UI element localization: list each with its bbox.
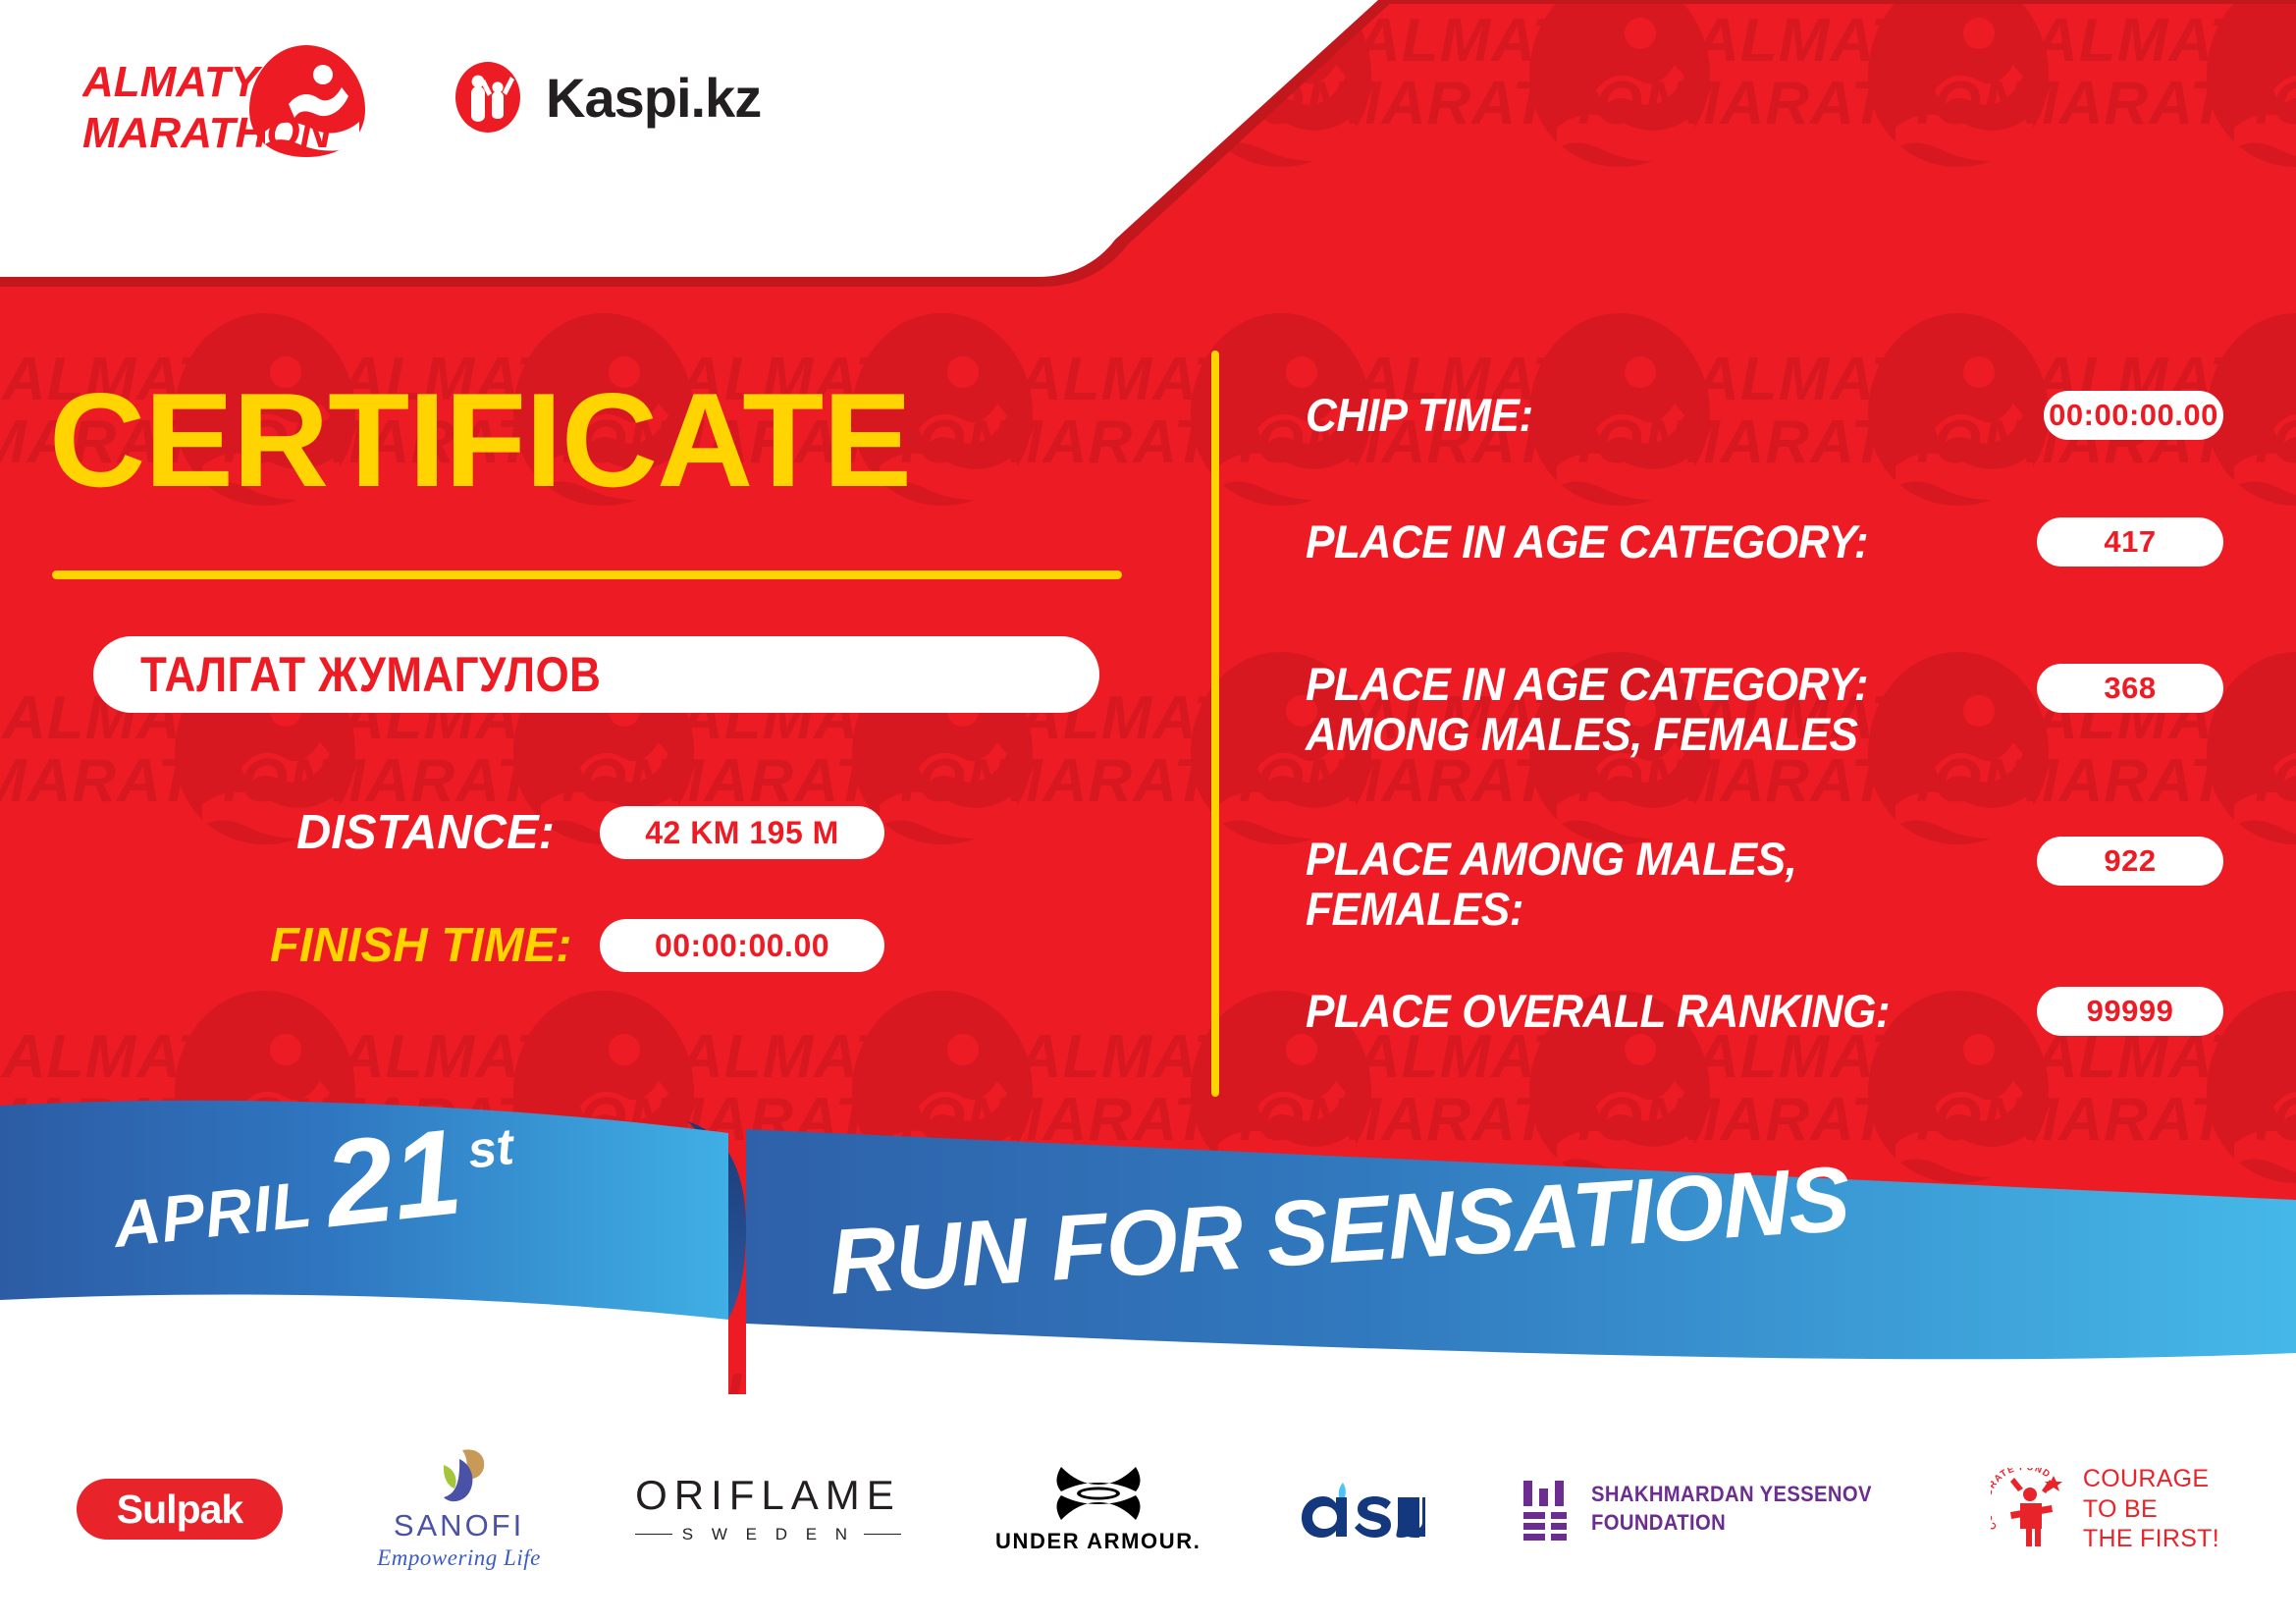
vertical-divider (1211, 351, 1219, 1097)
stat-row-place-overall: PLACE OVERALL RANKING: 99999 (1306, 987, 2223, 1037)
stat-row-place-age-category-gender: PLACE IN AGE CATEGORY: AMONG MALES, FEMA… (1306, 660, 2223, 760)
label-line-1: PLACE AMONG MALES, (1306, 833, 1796, 885)
sponsor-under-armour: UNDER ARMOUR. (995, 1465, 1201, 1554)
sulpak-logo-icon: Sulpak (77, 1479, 283, 1540)
ribbon-day-suffix: st (465, 1117, 516, 1181)
kaspi-people-icon (452, 61, 524, 134)
place-among-gender-value: 922 (2037, 837, 2223, 886)
stat-row-place-age-category: PLACE IN AGE CATEGORY: 417 (1306, 517, 2223, 568)
distance-label: DISTANCE: (270, 805, 555, 860)
title-underline (52, 570, 1122, 579)
sponsor-sanofi: SANOFI Empowering Life (377, 1447, 541, 1571)
courage-line-2: TO BE (2083, 1495, 2158, 1523)
chip-time-label: CHIP TIME: (1306, 391, 1533, 441)
place-overall-label: PLACE OVERALL RANKING: (1306, 987, 1890, 1037)
place-overall-value: 99999 (2037, 987, 2223, 1036)
ribbon-day: 21 (320, 1119, 466, 1238)
oriflame-rule-right (864, 1534, 901, 1536)
participant-name: ТАЛГАТ ЖУМАГУЛОВ (140, 646, 601, 703)
oriflame-tagline: S W E D E N (682, 1525, 854, 1544)
stat-row-chip-time: CHIP TIME: 00:00:00.00 (1306, 391, 2223, 441)
chip-time-value: 00:00:00.00 (2044, 391, 2223, 440)
participant-name-field: ТАЛГАТ ЖУМАГУЛОВ (93, 636, 1099, 713)
sponsor-courage-fund: CORPORATE FUND COURAGE TO BE THE FIRST! (1991, 1464, 2219, 1554)
label-line-2: FEMALES: (1306, 883, 1523, 935)
courage-label: COURAGE TO BE THE FIRST! (2083, 1464, 2219, 1554)
place-age-category-gender-value: 368 (2037, 664, 2223, 713)
courage-child-icon: CORPORATE FUND (1991, 1468, 2071, 1550)
sponsor-asu (1296, 1475, 1425, 1543)
sponsor-bar: Sulpak SANOFI Empowering Life ORIFLAME S… (0, 1394, 2296, 1624)
yessenov-line-1: SHAKHMARDAN YESSENOV (1591, 1482, 1872, 1506)
place-age-category-value: 417 (2037, 517, 2223, 567)
label-line-2: AMONG MALES, FEMALES (1306, 708, 1857, 760)
asu-logo-icon (1296, 1475, 1425, 1543)
stat-row-place-among-gender: PLACE AMONG MALES, FEMALES: 922 (1306, 835, 2223, 935)
courage-line-1: COURAGE (2083, 1465, 2210, 1492)
oriflame-sub: S W E D E N (635, 1525, 901, 1544)
almaty-marathon-logo: ALMATY MARATHON (82, 41, 377, 159)
under-armour-icon (1051, 1465, 1146, 1522)
oriflame-rule-left (635, 1534, 672, 1536)
sponsor-oriflame: ORIFLAME S W E D E N (635, 1474, 901, 1543)
label-line-1: PLACE IN AGE CATEGORY: (1306, 658, 1868, 710)
place-age-category-label: PLACE IN AGE CATEGORY: (1306, 517, 1868, 568)
almaty-line1: ALMATY (82, 58, 263, 106)
sanofi-label: SANOFI (394, 1508, 524, 1543)
place-among-gender-label: PLACE AMONG MALES, FEMALES: (1306, 835, 1796, 935)
certificate-canvas: ALMATY MARATHON (0, 0, 2296, 1624)
under-armour-label: UNDER ARMOUR. (995, 1529, 1201, 1554)
sanofi-tagline: Empowering Life (377, 1545, 541, 1571)
finish-time-label: FINISH TIME: (270, 918, 555, 973)
finish-time-row: FINISH TIME: 00:00:00.00 (270, 918, 884, 973)
yessenov-bars-icon (1520, 1477, 1575, 1542)
yessenov-label: SHAKHMARDAN YESSENOV FOUNDATION (1591, 1481, 1872, 1537)
almaty-line2: MARATHON (82, 109, 333, 157)
sponsor-yessenov-foundation: SHAKHMARDAN YESSENOV FOUNDATION (1520, 1477, 1896, 1542)
sanofi-bird-icon (427, 1447, 492, 1506)
finish-time-value: 00:00:00.00 (600, 919, 884, 972)
distance-row: DISTANCE: 42 KM 195 M (270, 805, 884, 860)
kaspi-logo: Kaspi.kz (452, 61, 761, 134)
yessenov-line-2: FOUNDATION (1591, 1510, 1726, 1535)
place-age-category-gender-label: PLACE IN AGE CATEGORY: AMONG MALES, FEMA… (1306, 660, 1868, 760)
oriflame-label: ORIFLAME (635, 1474, 901, 1517)
courage-line-3: THE FIRST! (2083, 1525, 2219, 1552)
kaspi-wordmark: Kaspi.kz (546, 66, 761, 130)
distance-value: 42 KM 195 M (600, 806, 884, 859)
sponsor-sulpak: Sulpak (77, 1479, 283, 1540)
page-title: CERTIFICATE (49, 373, 911, 507)
sulpak-label: Sulpak (117, 1487, 242, 1533)
